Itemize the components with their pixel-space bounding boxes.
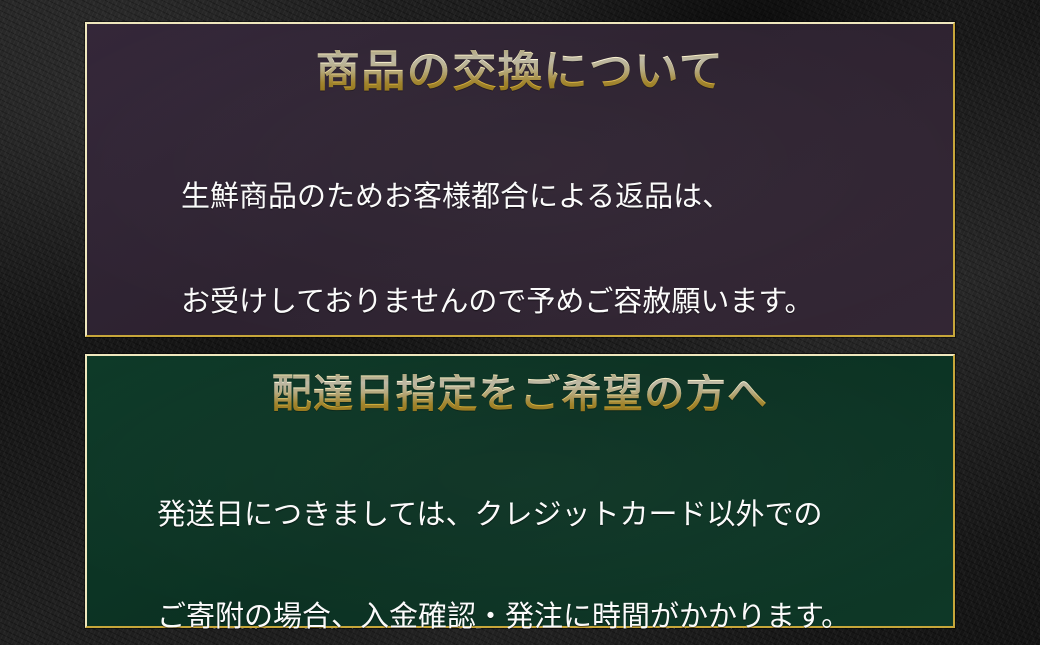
exchange-policy-panel: 商品の交換について 生鮮商品のためお客様都合による返品は、 お受けしておりません…	[85, 22, 955, 337]
delivery-date-body: 発送日につきましては、クレジットカード以外での ご寄附の場合、入金確認・発注に時…	[87, 430, 953, 645]
exchange-policy-title: 商品の交換について	[87, 50, 953, 94]
delivery-date-panel: 配達日指定をご希望の方へ 発送日につきましては、クレジットカード以外での ご寄附…	[85, 354, 955, 628]
exchange-line: 生鮮商品のためお客様都合による返品は、	[181, 180, 953, 215]
delivery-line: 発送日につきましては、クレジットカード以外での	[157, 498, 953, 532]
delivery-date-title: 配達日指定をご希望の方へ	[87, 374, 953, 414]
exchange-line: お受けしておりませんので予めご容赦願います。	[181, 285, 953, 320]
delivery-line: ご寄附の場合、入金確認・発注に時間がかかります。	[157, 600, 953, 634]
notice-page: 商品の交換について 生鮮商品のためお客様都合による返品は、 お受けしておりません…	[0, 0, 1040, 645]
